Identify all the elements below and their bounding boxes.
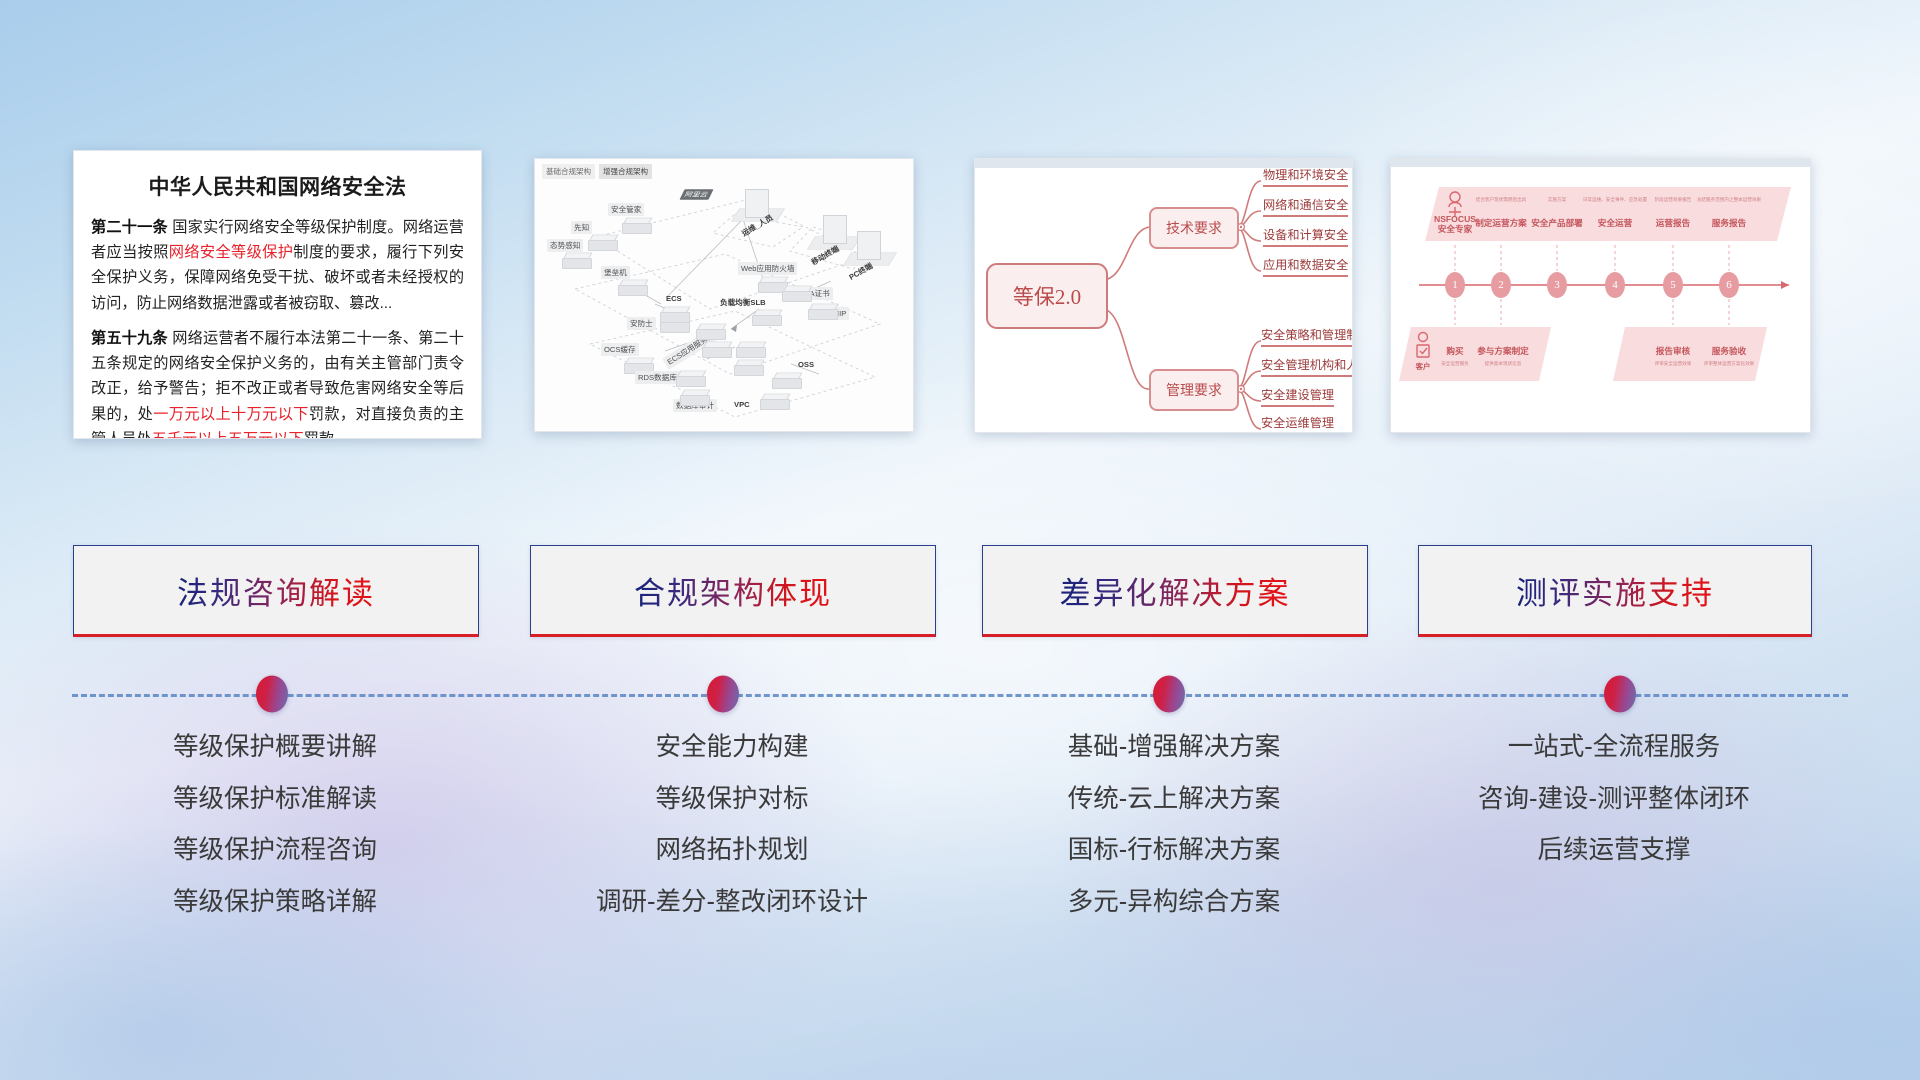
process-top-sub-6: 总结服务范围内之整本运营效果 (1697, 197, 1761, 203)
process-top-sub-2: 结合客户现状需明后出具 (1476, 197, 1527, 203)
node-security-butler (621, 215, 651, 235)
node-ecs (659, 304, 689, 324)
process-bottom-sub-3: 评审安全运营效果 (1655, 361, 1692, 367)
section-heading-label-assessment: 测评实施支持 (1516, 568, 1714, 613)
node-xianzhi (587, 232, 617, 252)
mindmap-root-node: 等保2.0 (986, 263, 1108, 329)
process-bottom-sub-4: 评审整体运营方案化效果 (1704, 361, 1755, 367)
law-article-59-run-1: 一万元以上十万元以下 (153, 406, 309, 423)
label-ecs: ECS (663, 293, 685, 304)
node-vpc (759, 391, 789, 411)
section-detail-lists: 等级保护概要讲解 等级保护标准解读 等级保护流程咨询 等级保护策略详解 安全能力… (0, 735, 1920, 965)
mindmap-leaf-physical-env: 物理和环境安全 (1263, 165, 1348, 187)
law-article-59-run-3: 五千元以上五万元以下 (152, 431, 304, 439)
process-top-title-2: 制定运营方案 (1475, 217, 1527, 229)
node-ca-certificate (781, 283, 811, 303)
law-article-21-run-1: 网络安全等级保护 (169, 244, 293, 261)
node-rds-database (675, 368, 705, 388)
list-item: 安全能力构建 (530, 735, 934, 761)
list-item: 调研-差分-整改闭环设计 (530, 890, 934, 916)
detail-column-solution: 基础-增强解决方案 传统-云上解决方案 国标-行标解决方案 多元-异构综合方案 (982, 735, 1366, 941)
mindmap-leaf-construction-mgmt: 安全建设管理 (1261, 385, 1334, 407)
process-bottom-title-1: 购买 (1446, 345, 1463, 357)
process-step-number-5: 5 (1663, 272, 1683, 298)
node-ecs-app-server-4 (733, 357, 763, 377)
section-heading-label-solution: 差异化解决方案 (1060, 568, 1291, 613)
section-heading-label-architecture: 合规架构体现 (634, 568, 832, 613)
process-step-number-4: 4 (1605, 272, 1625, 298)
section-heading-box-assessment[interactable]: 测评实施支持 (1418, 545, 1812, 637)
node-pc-terminal (857, 231, 881, 260)
label-oss: OSS (795, 359, 817, 370)
mindmap-branch-management: 管理要求 (1149, 369, 1239, 411)
detail-column-architecture: 安全能力构建 等级保护对标 网络拓扑规划 调研-差分-整改闭环设计 (530, 735, 934, 941)
node-ecs-app-server-3 (735, 339, 765, 359)
list-item: 等级保护策略详解 (73, 890, 477, 916)
process-step-number-6: 6 (1719, 272, 1739, 298)
process-top-sub-4: 日常运维、安全事件、应急处置 (1583, 197, 1647, 203)
architecture-connector-lines (535, 159, 913, 431)
thumbnail-card-row: 中华人民共和国网络安全法 第二十一条 国家实行网络安全等级保护制度。网络运营者应… (0, 150, 1920, 445)
timeline-dot-2[interactable] (707, 676, 739, 713)
list-item: 等级保护流程咨询 (73, 838, 477, 864)
node-oss (771, 370, 801, 390)
process-top-sub-5: 阶段运营效果报告 (1655, 197, 1692, 203)
list-item: 多元-异构综合方案 (982, 890, 1366, 916)
section-heading-label-regulation: 法规咨询解读 (177, 568, 375, 613)
mindmap-leaf-org-personnel: 安全管理机构和人员 (1261, 355, 1353, 377)
process-step-number-1: 1 (1445, 272, 1465, 298)
node-mobile-terminal (823, 215, 847, 244)
list-item: 咨询-建设-测评整体闭环 (1418, 787, 1810, 813)
cloud-architecture-card[interactable]: 基础合规架构 增强合规架构 (534, 158, 914, 432)
node-ecs-app-server-1 (695, 321, 725, 341)
node-bastion-host (617, 277, 647, 297)
law-card-title: 中华人民共和国网络安全法 (91, 171, 464, 201)
section-heading-row: 法规咨询解读 合规架构体现 差异化解决方案 测评实施支持 (0, 545, 1920, 650)
mindmap-leaf-device-compute: 设备和计算安全 (1263, 225, 1348, 247)
node-situational-awareness (561, 250, 591, 270)
mindmap-branch-technical: 技术要求 (1149, 207, 1239, 249)
process-step-number-2: 2 (1491, 272, 1511, 298)
timeline-dashed-line (72, 694, 1848, 697)
process-top-title-5: 运营报告 (1656, 217, 1690, 229)
law-article-21-number: 第二十一条 (91, 219, 168, 236)
mindmap-leaf-app-data: 应用和数据安全 (1263, 255, 1348, 277)
label-alibaba-cloud: 阿里云 (679, 189, 713, 199)
law-article-59-run-4: 罚款。 (304, 431, 350, 439)
label-rds-database: RDS数据库 (635, 371, 680, 384)
process-timeline-card[interactable]: NSFOCUS安全专家 结合客户现状需明后出具 制定运营方案 实施方案 安全产品… (1390, 158, 1811, 433)
law-article-59-number: 第五十九条 (91, 330, 168, 347)
node-anti-ddos-ip (807, 301, 837, 321)
list-item: 基础-增强解决方案 (982, 735, 1366, 761)
process-bottom-title-4: 服务验收 (1712, 345, 1746, 357)
list-item: 等级保护概要讲解 (73, 735, 477, 761)
dashed-timeline (0, 660, 1920, 730)
process-top-title-3: 安全产品部署 (1531, 217, 1583, 229)
law-article-59: 第五十九条 网络运营者不履行本法第二十一条、第二十五条规定的网络安全保护义务的，… (91, 326, 464, 439)
list-item: 一站式-全流程服务 (1418, 735, 1810, 761)
mindmap-leaf-policy-system: 安全策略和管理制度 (1261, 325, 1353, 347)
process-bottom-sub-2: 提供基本现状信息 (1485, 361, 1522, 367)
process-top-sub-3: 实施方案 (1548, 197, 1566, 203)
timeline-dot-4[interactable] (1604, 676, 1636, 713)
list-item: 等级保护标准解读 (73, 787, 477, 813)
node-database-audit (679, 387, 709, 407)
timeline-dot-3[interactable] (1153, 676, 1185, 713)
process-top-title-6: 服务报告 (1712, 217, 1746, 229)
process-top-title-4: 安全运营 (1598, 217, 1632, 229)
process-bottom-title-2: 参与方案制定 (1477, 345, 1529, 357)
node-ecs-app-server-2 (701, 339, 731, 359)
node-slb (751, 307, 781, 327)
detail-column-regulation: 等级保护概要讲解 等级保护标准解读 等级保护流程咨询 等级保护策略详解 (73, 735, 477, 941)
list-item: 传统-云上解决方案 (982, 787, 1366, 813)
mindmap-card[interactable]: 等保2.0 技术要求 管理要求 物理和环境安全 网络和通信安全 设备和计算安全 … (974, 158, 1353, 433)
process-role-customer: 客户 (1416, 361, 1431, 372)
list-item: 后续运营支撑 (1418, 838, 1810, 864)
process-step-number-3: 3 (1547, 272, 1567, 298)
process-bottom-title-3: 报告审核 (1656, 345, 1690, 357)
law-article-21: 第二十一条 国家实行网络安全等级保护制度。网络运营者应当按照网络安全等级保护制度… (91, 215, 464, 316)
section-heading-box-regulation[interactable]: 法规咨询解读 (73, 545, 479, 637)
process-role-expert: NSFOCUS安全专家 (1434, 215, 1476, 235)
mindmap-leaf-network-comm: 网络和通信安全 (1263, 195, 1348, 217)
list-item: 等级保护对标 (530, 787, 934, 813)
label-anfangshi: 安防士 (627, 317, 656, 330)
list-item: 国标-行标解决方案 (982, 838, 1366, 864)
list-item: 网络拓扑规划 (530, 838, 934, 864)
law-text-card[interactable]: 中华人民共和国网络安全法 第二十一条 国家实行网络安全等级保护制度。网络运营者应… (73, 150, 482, 439)
detail-column-assessment: 一站式-全流程服务 咨询-建设-测评整体闭环 后续运营支撑 (1418, 735, 1810, 890)
process-bottom-sub-1: 安全运营服务 (1441, 361, 1469, 367)
section-heading-box-architecture[interactable]: 合规架构体现 (530, 545, 936, 637)
timeline-dot-1[interactable] (256, 676, 288, 713)
mindmap-leaf-ops-mgmt: 安全运维管理 (1261, 413, 1334, 433)
label-vpc: VPC (731, 399, 753, 410)
section-heading-box-solution[interactable]: 差异化解决方案 (982, 545, 1368, 637)
